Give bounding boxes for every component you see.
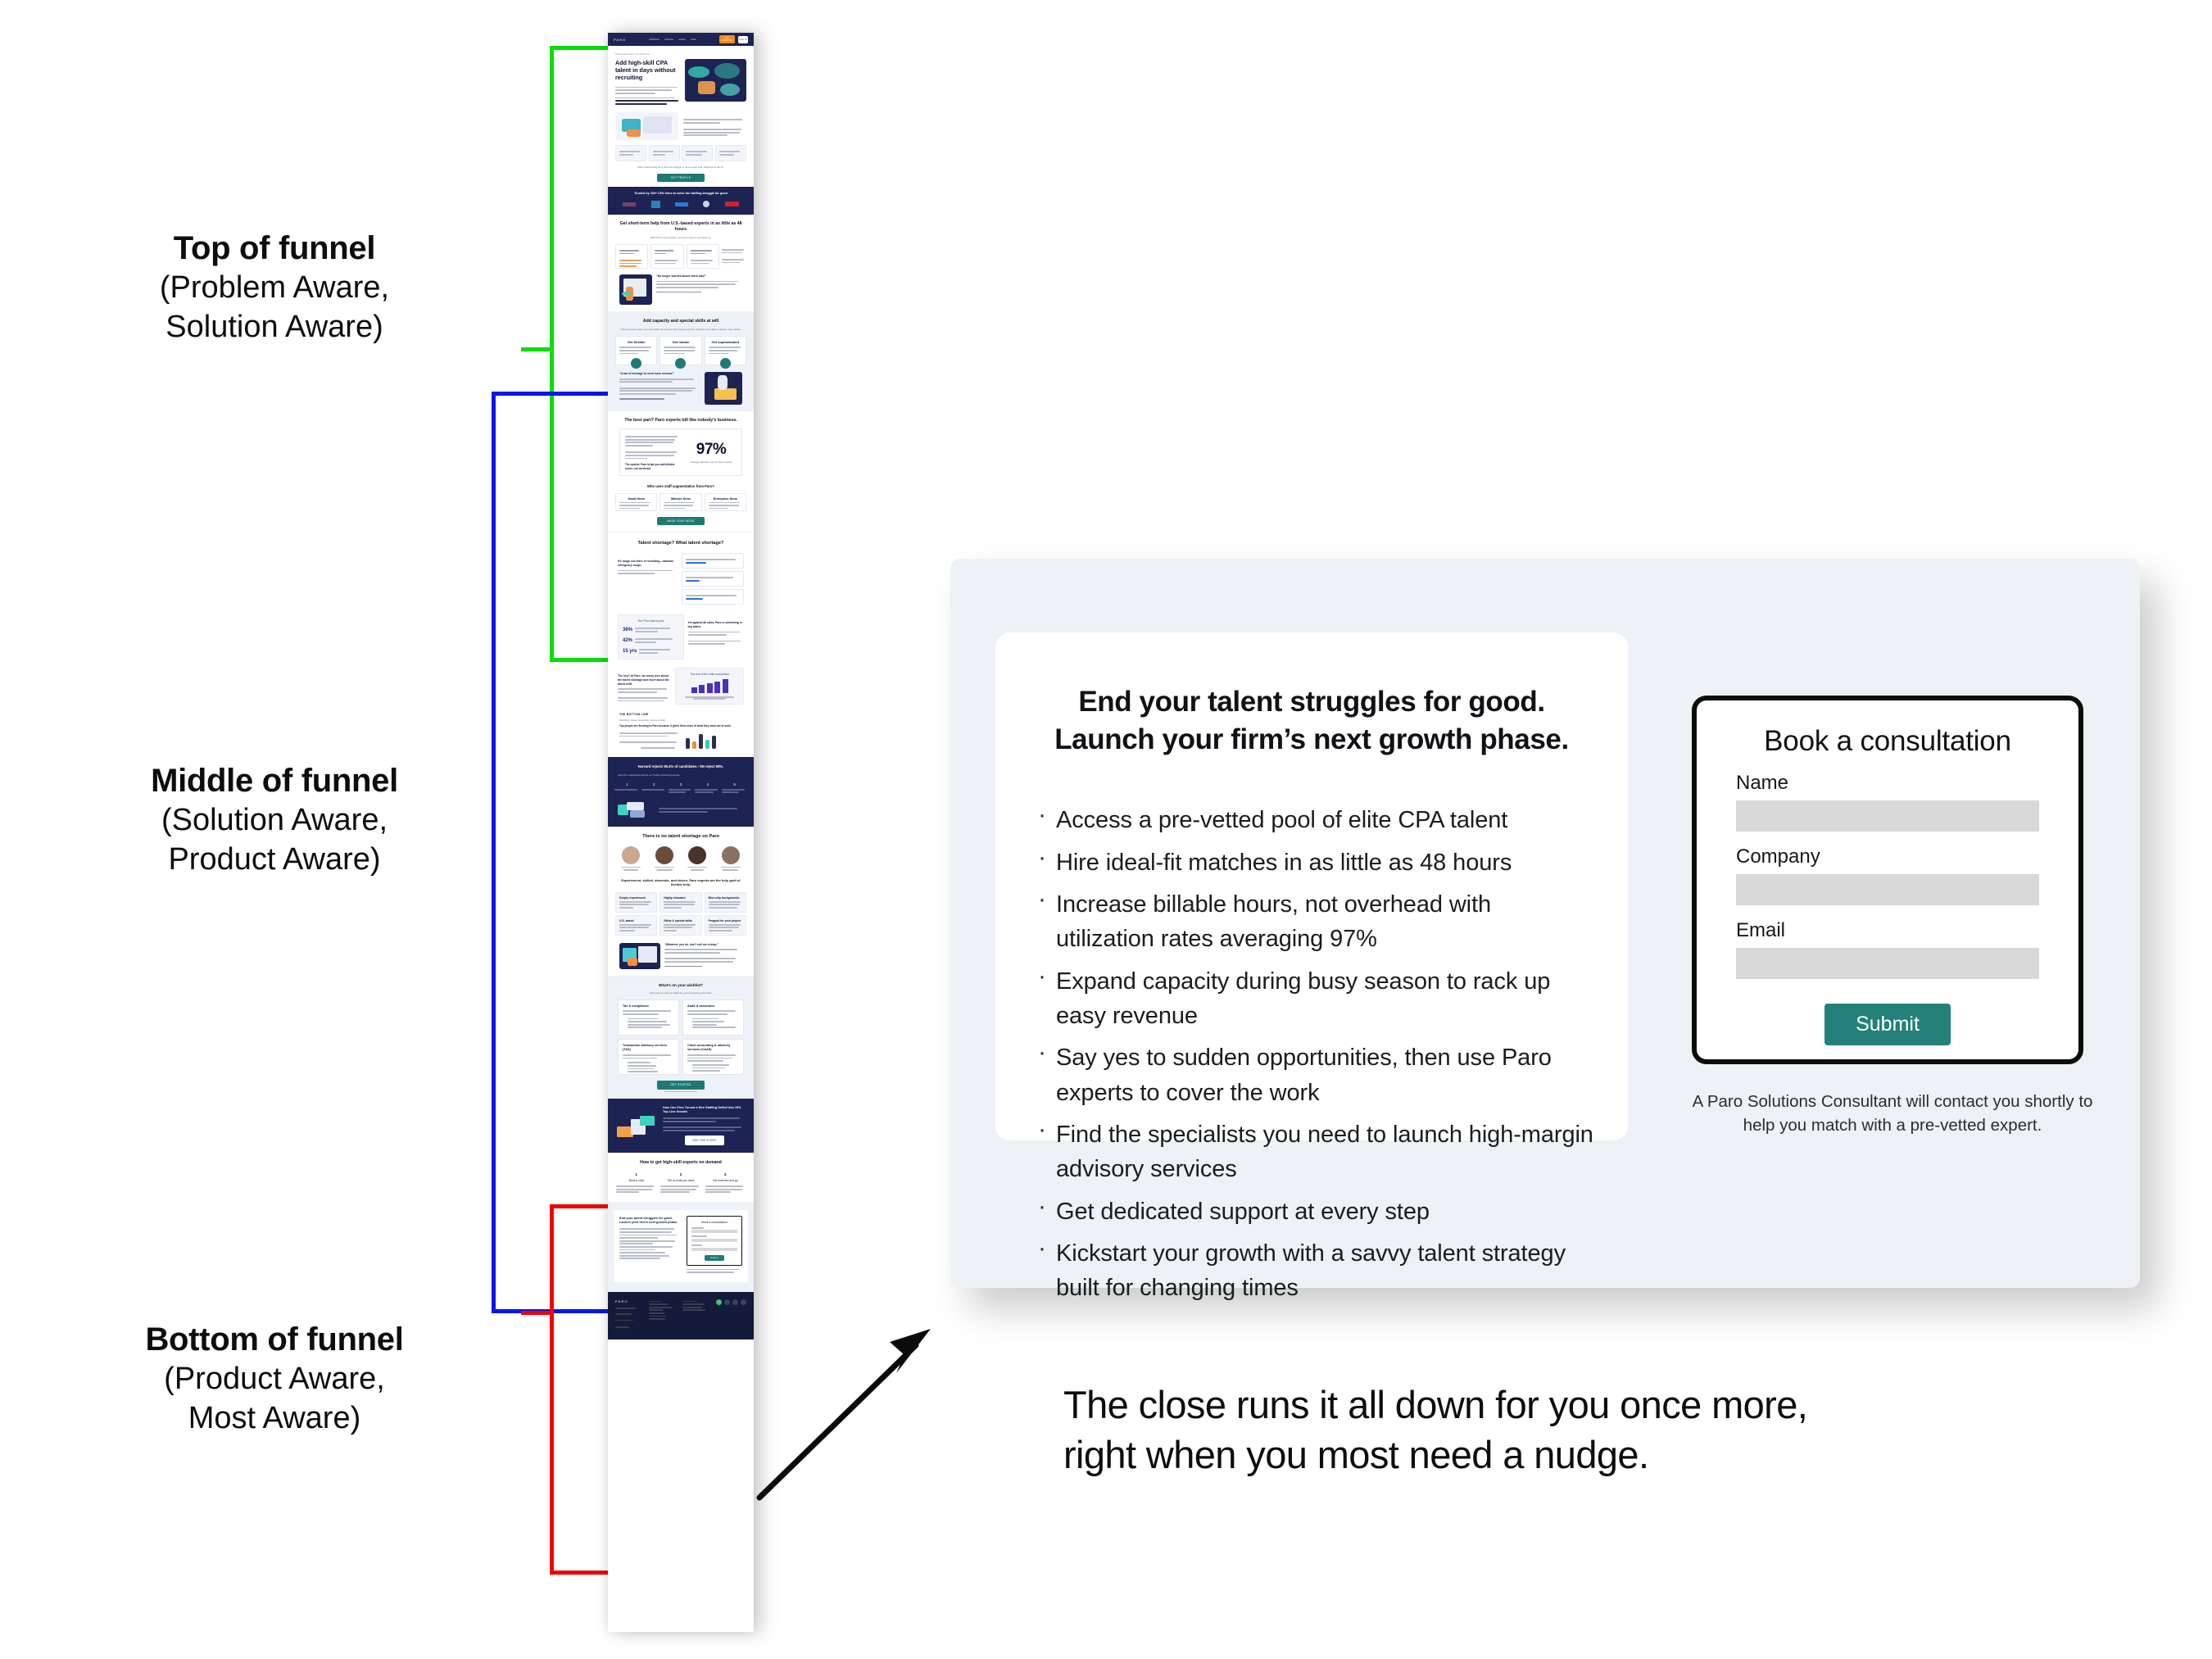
thumb-card-title: Get nimble <box>664 340 697 344</box>
facebook-icon[interactable] <box>724 1299 730 1305</box>
thumb-logo <box>703 201 709 207</box>
slide-canvas: Top of funnel (Problem Aware, Solution A… <box>0 0 2212 1659</box>
thumb-card-title: U.S.-based <box>619 919 653 922</box>
thumb-logo <box>623 202 636 206</box>
funnel-label-middle-sub-2: Product Aware) <box>37 841 512 880</box>
funnel-label-middle-title: Middle of funnel <box>37 760 512 801</box>
funnel-label-bottom-sub-1: (Product Aware, <box>37 1360 512 1399</box>
thumb-util-callout: The upshot: Paro helps you add billable … <box>625 463 681 470</box>
field-name: Name <box>1697 772 2078 832</box>
thumb-logo <box>651 201 660 208</box>
thumb-shortage-heading: Talent shortage? What talent shortage? <box>608 541 754 547</box>
thumb-util-cta[interactable]: MAKE YOUR MOVE <box>657 517 705 525</box>
company-input[interactable] <box>1736 874 2039 905</box>
name-label: Name <box>1736 772 2039 795</box>
thumb-stat-value: 15 yrs <box>623 649 637 654</box>
thumb-wishlist-section: What’s on your wishlist? Paro lets you p… <box>608 976 754 1099</box>
thumb-howto-heading: How to get high-skill experts on demand <box>608 1160 754 1166</box>
thumb-logo <box>675 202 688 206</box>
thumb-step-num: 2 <box>660 1172 700 1176</box>
twitter-icon[interactable] <box>732 1299 738 1305</box>
thumb-illustration <box>619 943 660 969</box>
thumb-card-title: Niche & special skills <box>664 919 697 922</box>
thumb-card-title: Blue-chip backgrounds <box>709 896 742 900</box>
list-item: Find the specialists you need to launch … <box>1035 1117 1595 1187</box>
thumb-util-stat: 97% <box>686 441 737 459</box>
thumb-card-title: Enterprise firms <box>709 497 742 501</box>
thumb-hero: Staff augmentation for CPA firms Add hig… <box>608 46 754 111</box>
thumb-step-title: Tell us what you need <box>660 1179 700 1182</box>
thumb-card-title: Client accounting & advisory services (C… <box>687 1044 739 1052</box>
list-item: Get dedicated support at every step <box>1035 1194 1595 1229</box>
thumb-brand: PARO <box>614 38 626 42</box>
benefit-list: Access a pre-vetted pool of elite CPA ta… <box>995 759 1628 1305</box>
thumb-nav-cta[interactable]: GET STARTED <box>719 35 735 43</box>
thumb-bottom-line-sub: Flexibility, career ownership, income gr… <box>619 718 742 722</box>
thumb-illustration <box>615 1112 658 1140</box>
bracket-middle-of-funnel <box>492 392 610 1313</box>
consultation-form: Book a consultation Name Company Email S… <box>1692 696 2083 1064</box>
thumb-wishlist-heading: What’s on your wishlist? <box>608 983 754 988</box>
thumb-card-title: Deeply experienced <box>619 896 653 900</box>
thumb-talent-pool-section: The Paro talent pool 36% 42% 15 yrs <box>608 610 754 757</box>
copy-heading-line-2: Launch your firm’s next growth phase. <box>1033 721 1590 759</box>
thumb-form-submit[interactable]: Submit <box>705 1255 724 1261</box>
thumb-util-stat-label: average utilization rate for Paro expert… <box>686 460 737 464</box>
thumb-screening-sub: Just 2% of applicants survive our 5-step… <box>608 773 754 777</box>
thumb-nav-item <box>691 39 696 40</box>
thumb-quote: “Whatever you do, don’t call me a temp.” <box>664 943 742 946</box>
slide-caption: The close runs it all down for you once … <box>1063 1380 2096 1480</box>
thumb-illustration <box>619 274 652 305</box>
thumb-48h-heading: Get short-term help from U.S.-based expe… <box>608 221 754 233</box>
thumb-howto-section: How to get high-skill experts on demand … <box>608 1153 754 1202</box>
company-label: Company <box>1736 845 2039 868</box>
thumb-stat-note: 59% of accounting firms say they struggl… <box>615 165 746 169</box>
funnel-label-bottom-sub-2: Most Aware) <box>37 1399 512 1439</box>
bracket-arm-bottom <box>550 1571 610 1575</box>
thumb-step-num: 3 <box>669 782 694 786</box>
thumb-hero-cta[interactable]: GET PROFILE <box>657 174 705 182</box>
thumb-stat-value: 36% <box>623 628 632 632</box>
thumb-hero-eyebrow: Staff augmentation for CPA firms <box>615 52 746 56</box>
caption-line-2: right when you most need a nudge. <box>1063 1430 2096 1480</box>
thumb-nav-item <box>649 39 660 40</box>
thumb-step-num: 2 <box>641 782 667 786</box>
list-item: Increase billable hours, not overhead wi… <box>1035 887 1595 957</box>
list-item: Access a pre-vetted pool of elite CPA ta… <box>1035 803 1595 837</box>
thumb-step-num: 1 <box>616 1172 656 1176</box>
name-input[interactable] <box>1736 800 2039 832</box>
thumb-quote: “No longer worried about client load” <box>656 274 742 278</box>
copy-card: End your talent struggles for good. Laun… <box>995 632 1628 1140</box>
thumb-step-num: 5 <box>722 782 747 786</box>
thumb-illustration <box>618 801 654 819</box>
linkedin-icon[interactable] <box>741 1299 746 1305</box>
thumb-experts-sub: Experienced, skilled, domestic, and driv… <box>608 878 754 887</box>
thumb-final-cta-section[interactable]: End your talent struggles for good. Laun… <box>608 1202 754 1292</box>
list-item: Say yes to sudden opportunities, then us… <box>1035 1040 1595 1110</box>
thumb-nav-login[interactable]: LOG IN <box>738 36 748 43</box>
form-title: Book a consultation <box>1697 700 2078 758</box>
thumb-experts-heading: There is no talent shortage on Paro <box>608 834 754 841</box>
bracket-stem <box>521 347 554 351</box>
funnel-label-top-title: Top of funnel <box>45 228 504 269</box>
thumb-nav-item <box>664 39 673 40</box>
thumb-illustration <box>705 372 742 405</box>
thumb-nav-item <box>678 39 686 40</box>
thumb-form-title: Book a consultation <box>691 1221 737 1224</box>
callout-card: End your talent struggles for good. Laun… <box>950 559 2140 1288</box>
copy-heading-line-1: End your talent struggles for good. <box>1033 683 1590 721</box>
thumb-footer-brand: PARO <box>615 1299 643 1303</box>
copy-heading: End your talent struggles for good. Laun… <box>995 632 1628 759</box>
bracket-arm-top <box>550 1204 610 1208</box>
thumb-card-title: Small firms <box>619 497 653 501</box>
list-item: Hire ideal-fit matches in as little as 4… <box>1035 845 1595 880</box>
funnel-label-top-sub-1: (Problem Aware, <box>45 269 504 308</box>
field-email: Email <box>1697 919 2078 979</box>
list-item: Expand capacity during busy season to ra… <box>1035 964 1595 1034</box>
thumb-quote: “A ton of leverage to seek more revenue” <box>619 372 700 375</box>
thumb-bottom-line-heading: THE BOTTOM LINE <box>619 713 742 716</box>
list-item: Kickstart your growth with a savvy talen… <box>1035 1236 1595 1306</box>
thumb-stat-value: 42% <box>623 638 632 643</box>
thumb-shortage-sub: It’s rough out there in recruiting—natio… <box>618 560 678 567</box>
email-input[interactable] <box>1736 948 2039 979</box>
thumb-card-title: Get sophisticated <box>709 340 742 344</box>
thumb-hero-illustration <box>685 59 746 102</box>
thumb-case-study-section: How One Firm Turned a Dire Staffing Defi… <box>608 1099 754 1153</box>
thumb-card-title: Highly educated <box>664 896 697 900</box>
funnel-label-top: Top of funnel (Problem Aware, Solution A… <box>45 228 504 347</box>
thumb-footer: PARO <box>608 1292 754 1339</box>
thumb-capacity-section: Add capacity and special skills at will … <box>608 311 754 411</box>
bracket-spine <box>492 392 496 1313</box>
thumb-bar-chart <box>680 679 739 693</box>
field-company: Company <box>1697 845 2078 905</box>
thumb-logo <box>725 202 739 206</box>
funnel-label-bottom-title: Bottom of funnel <box>37 1319 512 1360</box>
landing-page-thumbnail[interactable]: PARO GET STARTED LOG IN Staff augmentati… <box>608 33 754 1632</box>
thumb-step-num: 4 <box>695 782 720 786</box>
thumb-who-heading: Who uses staff augmentation from Paro? <box>608 484 754 489</box>
thumb-pool-title: The Paro talent pool <box>623 619 679 623</box>
social-icon[interactable] <box>716 1299 722 1305</box>
thumb-hero-heading: Add high-skill CPA talent in days withou… <box>615 59 680 82</box>
thumb-step-title: Get matched and go <box>705 1179 746 1182</box>
thumb-48h-sub: With Paro in your pocket, you never have… <box>608 236 754 239</box>
thumb-capacity-heading: Add capacity and special skills at will <box>608 319 754 324</box>
thumb-case-cta[interactable]: SEE THE STORY <box>685 1135 724 1145</box>
bracket-stem <box>521 1311 554 1315</box>
thumb-logo-bar: Trusted by 200+ CPA firms to solve the s… <box>608 187 754 215</box>
thumb-util-heading: The best part? Paro experts bill like no… <box>608 418 754 424</box>
thumb-case-heading: How One Firm Turned a Dire Staffing Defi… <box>663 1106 746 1114</box>
thumb-hero-secondary: 59% of accounting firms say they struggl… <box>608 111 754 187</box>
thumb-card-title: Audit & assurance <box>687 1004 739 1008</box>
email-label: Email <box>1736 919 2039 942</box>
form-note: A Paro Solutions Consultant will contact… <box>1692 1090 2093 1137</box>
funnel-label-middle-sub-1: (Solution Aware, <box>37 801 512 841</box>
submit-row: Submit <box>1697 979 2078 1045</box>
bracket-arm-top <box>492 392 610 396</box>
callout-arrow <box>737 1311 950 1524</box>
thumb-experts-section: There is no talent shortage on Paro Expe… <box>608 827 754 976</box>
thumb-screening-heading: Harvard rejects 96.4% of candidates.¹ We… <box>608 764 754 769</box>
thumb-logo-bar-heading: Trusted by 200+ CPA firms to solve the s… <box>615 192 746 196</box>
thumb-wishlist-sub: Paro lets you pick out skills like you’r… <box>608 991 754 995</box>
thumb-card-title: Tax & compliance <box>623 1004 674 1008</box>
funnel-label-top-sub-2: Solution Aware) <box>45 308 504 347</box>
thumb-step-num: 3 <box>705 1172 746 1176</box>
thumb-card-title: Get flexible <box>619 340 653 344</box>
thumb-illustration <box>615 112 678 140</box>
thumb-48h-section: Get short-term help from U.S.-based expe… <box>608 215 754 311</box>
bracket-arm-top <box>550 46 610 50</box>
funnel-label-bottom: Bottom of funnel (Product Aware, Most Aw… <box>37 1319 512 1438</box>
thumb-navbar: PARO GET STARTED LOG IN <box>608 33 754 46</box>
thumb-card-title: Transaction advisory services (TAS) <box>623 1044 674 1052</box>
thumb-step-title: Book a chat <box>616 1179 656 1182</box>
submit-button[interactable]: Submit <box>1824 1004 1951 1045</box>
thumb-card-title: Prepped for your project <box>709 919 742 922</box>
thumb-utilization-section: The best part? Paro experts bill like no… <box>608 411 754 531</box>
caption-line-1: The close runs it all down for you once … <box>1063 1380 2096 1430</box>
thumb-final-heading: End your talent struggles for good. Laun… <box>619 1216 682 1224</box>
funnel-label-middle: Middle of funnel (Solution Aware, Produc… <box>37 760 512 879</box>
bracket-spine <box>550 1204 554 1575</box>
thumb-step-num: 1 <box>614 782 640 786</box>
thumb-shortage-section: Talent shortage? What talent shortage? I… <box>608 532 754 610</box>
bracket-bottom-of-funnel <box>521 1204 610 1575</box>
thumb-screening-section: Harvard rejects 96.4% of candidates.¹ We… <box>608 757 754 827</box>
thumb-card-title: Midsize firms <box>664 497 697 501</box>
thumb-wishlist-cta[interactable]: GET STARTED <box>657 1081 705 1089</box>
